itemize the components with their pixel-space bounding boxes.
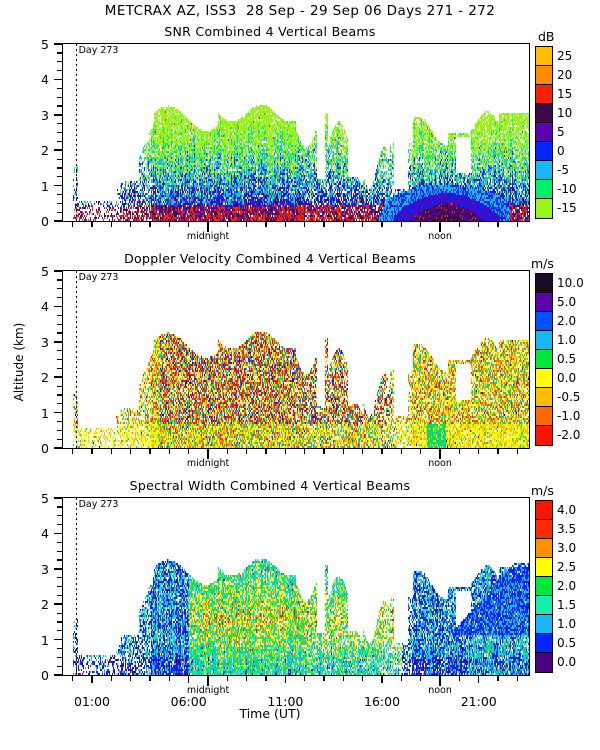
y-tick-label: 5 bbox=[29, 491, 49, 506]
y-tick-label: 1 bbox=[29, 633, 49, 648]
y-tick-major bbox=[54, 341, 63, 343]
colorbar-snr bbox=[535, 46, 553, 219]
y-tick-major bbox=[54, 533, 63, 535]
x-tick-minor bbox=[169, 221, 170, 227]
y-tick-label: 2 bbox=[29, 597, 49, 612]
y-tick-minor bbox=[57, 123, 63, 124]
colorbar-tick-label: 10 bbox=[557, 106, 572, 120]
y-tick-minor bbox=[57, 559, 63, 560]
day-annotation: Day 273 bbox=[79, 45, 119, 56]
x-tick-major bbox=[285, 675, 286, 683]
x-tick-minor bbox=[343, 448, 344, 454]
y-tick-minor bbox=[57, 515, 63, 516]
x-tick-minor bbox=[246, 675, 247, 681]
y-tick-minor bbox=[57, 577, 63, 578]
heatmap-canvas-snr bbox=[63, 44, 529, 221]
x-tick-minor bbox=[420, 675, 421, 681]
colorbar-tick-label: 2.0 bbox=[557, 314, 576, 328]
colorbar-swatch bbox=[536, 653, 552, 672]
colorbar-doppler bbox=[535, 273, 553, 446]
y-tick-minor bbox=[57, 368, 63, 369]
y-tick-minor bbox=[57, 52, 63, 53]
colorbar-swatch bbox=[536, 199, 552, 218]
colorbar-tick-label: -5 bbox=[557, 163, 569, 177]
y-tick-label: 1 bbox=[29, 179, 49, 194]
x-tick-label: 01:00 bbox=[62, 694, 122, 709]
x-tick-minor bbox=[169, 675, 170, 681]
colorbar-unit-snr: dB bbox=[538, 29, 555, 44]
heatmap-canvas-doppler bbox=[63, 271, 529, 448]
y-tick-major bbox=[54, 412, 63, 414]
y-tick-major bbox=[54, 603, 63, 605]
y-tick-minor bbox=[57, 203, 63, 204]
colorbar-swatch bbox=[536, 180, 552, 199]
x-tick-minor bbox=[91, 448, 92, 454]
x-tick-minor bbox=[304, 448, 305, 454]
x-tick-minor bbox=[459, 675, 460, 681]
y-tick-minor bbox=[57, 394, 63, 395]
y-tick-minor bbox=[57, 332, 63, 333]
y-tick-label: 0 bbox=[29, 214, 49, 229]
x-tick-minor bbox=[343, 221, 344, 227]
day-annotation: Day 273 bbox=[79, 499, 119, 510]
y-tick-minor bbox=[57, 141, 63, 142]
x-tick-minor bbox=[149, 221, 150, 227]
colorbar-swatch bbox=[536, 274, 552, 293]
y-tick-minor bbox=[57, 167, 63, 168]
colorbar-tick-label: 1.0 bbox=[557, 617, 576, 631]
colorbar-tick-label: 0.0 bbox=[557, 371, 576, 385]
y-tick-minor bbox=[57, 350, 63, 351]
y-tick-minor bbox=[57, 386, 63, 387]
y-tick-minor bbox=[57, 279, 63, 280]
x-tick-major bbox=[381, 675, 382, 683]
y-tick-minor bbox=[57, 613, 63, 614]
x-tick-minor bbox=[130, 448, 131, 454]
x-tick-minor bbox=[381, 448, 382, 454]
x-tick-minor bbox=[72, 221, 73, 227]
x-tick-minor bbox=[381, 221, 382, 227]
y-tick-label: 4 bbox=[29, 72, 49, 87]
y-tick-minor bbox=[57, 586, 63, 587]
y-tick-minor bbox=[57, 595, 63, 596]
colorbar-swatch bbox=[536, 331, 552, 350]
colorbar-tick-label: 25 bbox=[557, 49, 572, 63]
x-tick-minor bbox=[188, 221, 189, 227]
y-tick-minor bbox=[57, 315, 63, 316]
x-tick-label: 11:00 bbox=[255, 694, 315, 709]
x-tick-minor bbox=[227, 675, 228, 681]
x-tick-minor bbox=[169, 448, 170, 454]
y-tick-label: 1 bbox=[29, 406, 49, 421]
colorbar-swatch bbox=[536, 85, 552, 104]
x-mark-label-midnight: midnight bbox=[178, 458, 238, 469]
y-tick-minor bbox=[57, 648, 63, 649]
figure-title: METCRAX AZ, ISS3 28 Sep - 29 Sep 06 Days… bbox=[0, 5, 600, 19]
y-tick-minor bbox=[57, 324, 63, 325]
panel-title-spectral-width: Spectral Width Combined 4 Vertical Beams bbox=[0, 480, 540, 493]
x-tick-label: 06:00 bbox=[159, 694, 219, 709]
colorbar-tick-label: -15 bbox=[557, 201, 577, 215]
colorbar-tick-label: 10.0 bbox=[557, 276, 584, 290]
x-tick-minor bbox=[517, 221, 518, 227]
y-tick-minor bbox=[57, 61, 63, 62]
y-tick-minor bbox=[57, 666, 63, 667]
x-tick-minor bbox=[401, 448, 402, 454]
colorbar-tick-label: 5.0 bbox=[557, 295, 576, 309]
y-tick-major bbox=[54, 79, 63, 81]
y-tick-major bbox=[54, 376, 63, 378]
x-tick-minor bbox=[459, 221, 460, 227]
colorbar-tick-label: 3.5 bbox=[557, 522, 576, 536]
y-tick-label: 0 bbox=[29, 441, 49, 456]
y-tick-minor bbox=[57, 88, 63, 89]
x-tick-minor bbox=[323, 221, 324, 227]
y-tick-minor bbox=[57, 430, 63, 431]
y-tick-minor bbox=[57, 297, 63, 298]
x-tick-minor bbox=[111, 448, 112, 454]
day-boundary-line bbox=[76, 498, 77, 675]
colorbar-swatch bbox=[536, 539, 552, 558]
y-tick-minor bbox=[57, 621, 63, 622]
colorbar-swatch bbox=[536, 577, 552, 596]
x-tick-minor bbox=[343, 675, 344, 681]
y-tick-label: 2 bbox=[29, 143, 49, 158]
x-tick-minor bbox=[478, 221, 479, 227]
x-mark-label-midnight: midnight bbox=[178, 231, 238, 242]
colorbar-tick-label: 2.5 bbox=[557, 560, 576, 574]
x-tick-major bbox=[188, 675, 189, 683]
x-tick-major bbox=[91, 675, 92, 683]
x-tick-minor bbox=[149, 448, 150, 454]
x-tick-minor bbox=[111, 221, 112, 227]
y-tick-major bbox=[54, 270, 63, 272]
colorbar-swatch bbox=[536, 426, 552, 445]
x-tick-minor bbox=[188, 448, 189, 454]
x-tick-minor bbox=[227, 448, 228, 454]
y-tick-major bbox=[54, 568, 63, 570]
x-tick-minor bbox=[130, 221, 131, 227]
x-tick-minor bbox=[517, 675, 518, 681]
x-tick-minor bbox=[304, 675, 305, 681]
colorbar-tick-label: -2.0 bbox=[557, 428, 580, 442]
colorbar-tick-label: 20 bbox=[557, 68, 572, 82]
colorbar-swatch bbox=[536, 293, 552, 312]
x-tick-minor bbox=[362, 221, 363, 227]
x-tick-minor bbox=[323, 675, 324, 681]
colorbar-tick-label: -0.5 bbox=[557, 390, 580, 404]
x-tick-minor bbox=[265, 675, 266, 681]
y-tick-minor bbox=[57, 439, 63, 440]
x-tick-minor bbox=[91, 221, 92, 227]
x-tick-minor bbox=[459, 448, 460, 454]
x-tick-minor bbox=[323, 448, 324, 454]
x-tick-minor bbox=[362, 675, 363, 681]
y-tick-label: 0 bbox=[29, 668, 49, 683]
colorbar-tick-label: 0 bbox=[557, 144, 565, 158]
y-tick-major bbox=[54, 674, 63, 676]
x-tick-minor bbox=[285, 448, 286, 454]
y-tick-major bbox=[54, 306, 63, 308]
panel-title-snr: SNR Combined 4 Vertical Beams bbox=[0, 26, 540, 39]
y-tick-minor bbox=[57, 159, 63, 160]
colorbar-tick-label: 0.0 bbox=[557, 655, 576, 669]
colorbar-tick-label: 2.0 bbox=[557, 579, 576, 593]
x-tick-minor bbox=[497, 448, 498, 454]
y-axis-label: Altitude (km) bbox=[12, 317, 26, 407]
colorbar-swatch bbox=[536, 501, 552, 520]
radar-profiler-figure: METCRAX AZ, ISS3 28 Sep - 29 Sep 06 Days… bbox=[0, 0, 600, 750]
y-tick-major bbox=[54, 497, 63, 499]
x-tick-minor bbox=[285, 221, 286, 227]
colorbar-tick-label: 5 bbox=[557, 125, 565, 139]
y-tick-major bbox=[54, 220, 63, 222]
colorbar-tick-label: 0.5 bbox=[557, 352, 576, 366]
colorbar-swatch bbox=[536, 142, 552, 161]
day-annotation: Day 273 bbox=[79, 272, 119, 283]
x-tick-minor bbox=[130, 675, 131, 681]
x-tick-minor bbox=[517, 448, 518, 454]
x-tick-minor bbox=[401, 221, 402, 227]
y-tick-minor bbox=[57, 212, 63, 213]
x-tick-minor bbox=[246, 448, 247, 454]
y-tick-minor bbox=[57, 524, 63, 525]
x-tick-minor bbox=[420, 448, 421, 454]
y-tick-label: 5 bbox=[29, 37, 49, 52]
y-tick-label: 5 bbox=[29, 264, 49, 279]
colorbar-swatch bbox=[536, 407, 552, 426]
y-tick-minor bbox=[57, 359, 63, 360]
x-mark-label-noon: noon bbox=[410, 231, 470, 242]
colorbar-tick-label: 3.0 bbox=[557, 541, 576, 555]
x-tick-minor bbox=[72, 675, 73, 681]
y-tick-label: 4 bbox=[29, 526, 49, 541]
colorbar-swatch bbox=[536, 520, 552, 539]
y-tick-minor bbox=[57, 288, 63, 289]
colorbar-swatch bbox=[536, 47, 552, 66]
y-tick-minor bbox=[57, 194, 63, 195]
colorbar-swatch bbox=[536, 123, 552, 142]
panel-title-doppler: Doppler Velocity Combined 4 Vertical Bea… bbox=[0, 253, 540, 266]
x-tick-major bbox=[478, 675, 479, 683]
x-tick-minor bbox=[246, 221, 247, 227]
x-tick-minor bbox=[304, 221, 305, 227]
colorbar-swatch bbox=[536, 388, 552, 407]
x-tick-minor bbox=[265, 221, 266, 227]
colorbar-tick-label: -10 bbox=[557, 182, 577, 196]
x-tick-minor bbox=[149, 675, 150, 681]
x-tick-minor bbox=[478, 448, 479, 454]
colorbar-unit-doppler: m/s bbox=[531, 256, 554, 271]
y-tick-minor bbox=[57, 105, 63, 106]
y-tick-minor bbox=[57, 403, 63, 404]
colorbar-unit-spectral-width: m/s bbox=[531, 483, 554, 498]
x-tick-label: 16:00 bbox=[352, 694, 412, 709]
y-tick-minor bbox=[57, 421, 63, 422]
y-tick-minor bbox=[57, 542, 63, 543]
y-tick-label: 3 bbox=[29, 562, 49, 577]
colorbar-swatch bbox=[536, 350, 552, 369]
y-tick-minor bbox=[57, 630, 63, 631]
x-tick-minor bbox=[497, 675, 498, 681]
colorbar-tick-label: 1.5 bbox=[557, 598, 576, 612]
colorbar-swatch bbox=[536, 104, 552, 123]
x-mark-label-noon: noon bbox=[410, 458, 470, 469]
colorbar-tick-label: 15 bbox=[557, 87, 572, 101]
y-tick-label: 3 bbox=[29, 108, 49, 123]
x-tick-minor bbox=[362, 448, 363, 454]
y-tick-minor bbox=[57, 657, 63, 658]
y-tick-minor bbox=[57, 70, 63, 71]
colorbar-swatch bbox=[536, 369, 552, 388]
y-tick-major bbox=[54, 185, 63, 187]
x-tick-minor bbox=[111, 675, 112, 681]
heatmap-canvas-spectral-width bbox=[63, 498, 529, 675]
colorbar-swatch bbox=[536, 634, 552, 653]
x-tick-minor bbox=[265, 448, 266, 454]
y-tick-major bbox=[54, 639, 63, 641]
colorbar-swatch bbox=[536, 596, 552, 615]
colorbar-swatch bbox=[536, 615, 552, 634]
colorbar-tick-label: 0.5 bbox=[557, 636, 576, 650]
y-tick-label: 3 bbox=[29, 335, 49, 350]
colorbar-swatch bbox=[536, 66, 552, 85]
y-tick-minor bbox=[57, 97, 63, 98]
y-tick-label: 4 bbox=[29, 299, 49, 314]
y-tick-minor bbox=[57, 176, 63, 177]
colorbar-swatch bbox=[536, 161, 552, 180]
colorbar-swatch bbox=[536, 558, 552, 577]
y-tick-major bbox=[54, 43, 63, 45]
colorbar-swatch bbox=[536, 312, 552, 331]
x-tick-minor bbox=[420, 221, 421, 227]
y-tick-major bbox=[54, 149, 63, 151]
colorbar-tick-label: 1.0 bbox=[557, 333, 576, 347]
x-tick-minor bbox=[497, 221, 498, 227]
colorbar-tick-label: 4.0 bbox=[557, 503, 576, 517]
x-tick-minor bbox=[401, 675, 402, 681]
y-tick-major bbox=[54, 447, 63, 449]
y-tick-minor bbox=[57, 506, 63, 507]
y-tick-minor bbox=[57, 551, 63, 552]
x-tick-minor bbox=[72, 448, 73, 454]
day-boundary-line bbox=[76, 44, 77, 221]
y-tick-minor bbox=[57, 132, 63, 133]
x-tick-label: 21:00 bbox=[449, 694, 509, 709]
x-tick-minor bbox=[227, 221, 228, 227]
colorbar-tick-label: -1.0 bbox=[557, 409, 580, 423]
y-tick-major bbox=[54, 114, 63, 116]
day-boundary-line bbox=[76, 271, 77, 448]
colorbar-spectral-width bbox=[535, 500, 553, 673]
y-tick-label: 2 bbox=[29, 370, 49, 385]
